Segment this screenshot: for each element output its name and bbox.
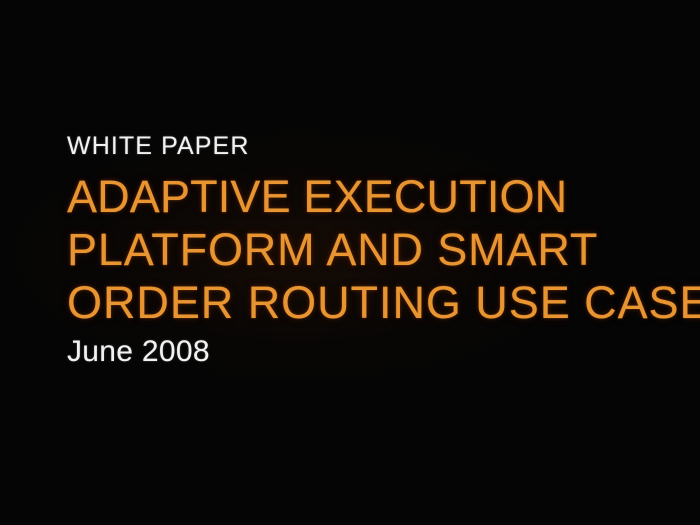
page-title-line-1: ADAPTIVE EXECUTION — [67, 170, 677, 223]
white-paper-cover-page: WHITE PAPER ADAPTIVE EXECUTION PLATFORM … — [0, 0, 700, 525]
page-title: ADAPTIVE EXECUTION PLATFORM AND SMART OR… — [67, 170, 677, 329]
cover-text-block: WHITE PAPER ADAPTIVE EXECUTION PLATFORM … — [67, 131, 677, 369]
page-title-line-3: ORDER ROUTING USE CASE — [67, 276, 677, 329]
publication-date: June 2008 — [67, 335, 677, 369]
document-kind-label: WHITE PAPER — [67, 131, 677, 161]
page-title-line-2: PLATFORM AND SMART — [67, 223, 677, 276]
